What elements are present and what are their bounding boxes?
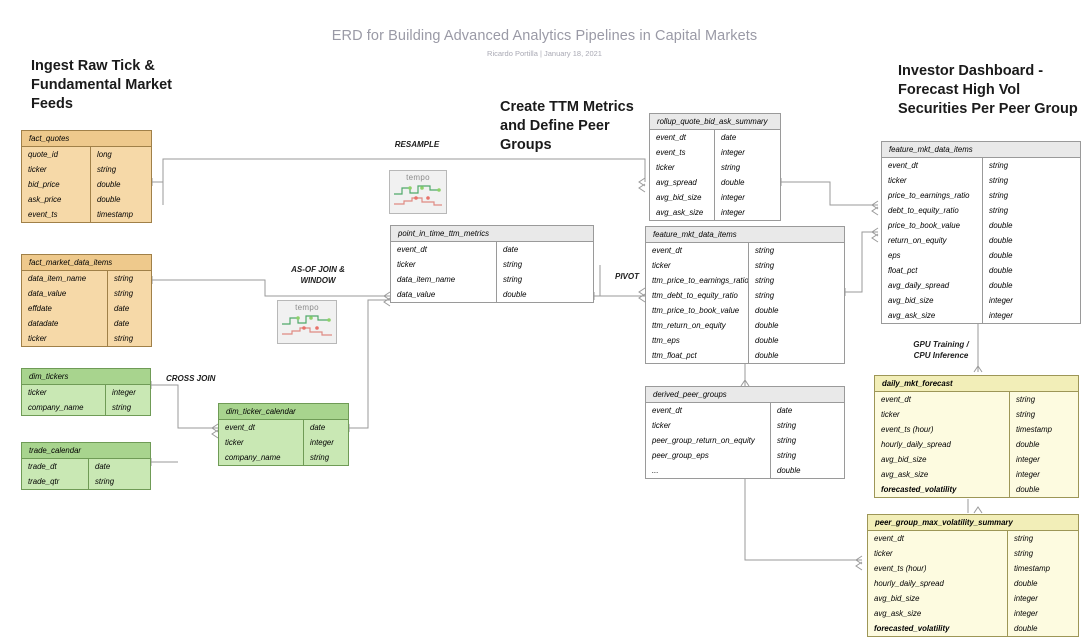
- table-row: forecasted_volatilitydouble: [875, 482, 1078, 497]
- field-name: price_to_earnings_ratio: [882, 188, 982, 203]
- field-name: avg_spread: [650, 175, 714, 190]
- field-type: string: [770, 448, 844, 463]
- table-header: fact_quotes: [22, 131, 151, 147]
- table-header: fact_market_data_items: [22, 255, 151, 271]
- field-type: date: [107, 316, 151, 331]
- field-name: ttm_price_to_earnings_ratio: [646, 273, 748, 288]
- table-row: event_ts (hour)timestamp: [868, 561, 1078, 576]
- tempo-sparkline-icon-2: [278, 312, 336, 338]
- table-row: event_dtdate: [646, 403, 844, 418]
- field-name: hourly_daily_spread: [875, 437, 1009, 452]
- field-name: trade_qtr: [22, 474, 88, 489]
- erd-table-trade-calendar[interactable]: trade_calendar trade_dtdatetrade_qtrstri…: [21, 442, 151, 490]
- table-row: tickerstring: [646, 258, 844, 273]
- field-type: integer: [714, 145, 780, 160]
- table-row: trade_qtrstring: [22, 474, 150, 489]
- erd-table-rollup-quote-bid-ask-summary[interactable]: rollup_quote_bid_ask_summary event_dtdat…: [649, 113, 781, 221]
- table-row: tickerstring: [875, 407, 1078, 422]
- table-row: event_tstimestamp: [22, 207, 151, 222]
- field-name: ticker: [391, 257, 496, 272]
- field-name: datadate: [22, 316, 107, 331]
- table-row: avg_spreaddouble: [650, 175, 780, 190]
- edge-label-resample: RESAMPLE: [380, 139, 454, 150]
- field-type: string: [90, 162, 151, 177]
- table-row: avg_bid_sizeinteger: [882, 293, 1080, 308]
- table-row: tickerstring: [868, 546, 1078, 561]
- table-body: event_dtdateevent_tsintegertickerstringa…: [650, 130, 780, 220]
- field-type: integer: [303, 435, 348, 450]
- field-name: ticker: [219, 435, 303, 450]
- table-body: data_item_namestringdata_valuestringeffd…: [22, 271, 151, 346]
- field-name: eps: [882, 248, 982, 263]
- table-row: forecasted_volatilitydouble: [868, 621, 1078, 636]
- field-type: integer: [714, 190, 780, 205]
- field-name: debt_to_equity_ratio: [882, 203, 982, 218]
- field-name: ttm_eps: [646, 333, 748, 348]
- field-name: data_value: [391, 287, 496, 302]
- field-name: avg_bid_size: [650, 190, 714, 205]
- edge-label-pivot: PIVOT: [606, 271, 648, 282]
- table-row: tickerstring: [22, 331, 151, 346]
- field-type: double: [982, 263, 1080, 278]
- field-type: string: [982, 188, 1080, 203]
- field-name: ticker: [875, 407, 1009, 422]
- field-name: ticker: [22, 331, 107, 346]
- field-type: double: [982, 248, 1080, 263]
- table-row: ttm_debt_to_equity_ratiostring: [646, 288, 844, 303]
- field-type: double: [1007, 576, 1078, 591]
- field-name: ticker: [646, 418, 770, 433]
- table-row: tickerstring: [650, 160, 780, 175]
- field-type: string: [88, 474, 150, 489]
- field-name: event_dt: [868, 531, 1007, 546]
- tempo-logo-icon: tempo: [389, 170, 447, 214]
- field-name: event_ts: [22, 207, 90, 222]
- table-row: avg_bid_sizeinteger: [875, 452, 1078, 467]
- field-type: integer: [982, 308, 1080, 323]
- table-header: feature_mkt_data_items: [646, 227, 844, 243]
- table-row: event_dtstring: [868, 531, 1078, 546]
- field-name: quote_id: [22, 147, 90, 162]
- field-type: date: [714, 130, 780, 145]
- field-type: double: [1007, 621, 1078, 636]
- field-type: integer: [1009, 467, 1078, 482]
- field-name: data_item_name: [391, 272, 496, 287]
- erd-table-fact-quotes[interactable]: fact_quotes quote_idlongtickerstringbid_…: [21, 130, 152, 223]
- field-name: ttm_float_pct: [646, 348, 748, 363]
- field-name: ticker: [22, 385, 105, 400]
- field-name: ttm_return_on_equity: [646, 318, 748, 333]
- field-type: timestamp: [1009, 422, 1078, 437]
- table-row: ...double: [646, 463, 844, 478]
- field-type: string: [770, 433, 844, 448]
- erd-table-feature-mkt-data-items-mid[interactable]: feature_mkt_data_items event_dtstringtic…: [645, 226, 845, 364]
- field-name: event_dt: [646, 243, 748, 258]
- erd-table-daily-mkt-forecast[interactable]: daily_mkt_forecast event_dtstringtickers…: [874, 375, 1079, 498]
- field-name: avg_bid_size: [868, 591, 1007, 606]
- table-row: datadatedate: [22, 316, 151, 331]
- field-name: avg_bid_size: [875, 452, 1009, 467]
- field-type: integer: [105, 385, 150, 400]
- field-type: string: [105, 400, 150, 415]
- field-type: integer: [714, 205, 780, 220]
- field-name: event_dt: [646, 403, 770, 418]
- table-body: event_dtstringtickerstringprice_to_earni…: [882, 158, 1080, 323]
- table-row: ttm_price_to_earnings_ratiostring: [646, 273, 844, 288]
- field-name: event_ts (hour): [875, 422, 1009, 437]
- table-row: tickerstring: [391, 257, 593, 272]
- field-type: string: [748, 273, 844, 288]
- table-row: avg_ask_sizeinteger: [650, 205, 780, 220]
- field-type: date: [496, 242, 593, 257]
- field-type: integer: [1007, 591, 1078, 606]
- field-type: double: [748, 333, 844, 348]
- field-name: event_ts: [650, 145, 714, 160]
- table-row: tickerinteger: [219, 435, 348, 450]
- field-type: string: [107, 331, 151, 346]
- field-name: event_ts (hour): [868, 561, 1007, 576]
- table-body: event_dtstringtickerstringttm_price_to_e…: [646, 243, 844, 363]
- erd-table-dim-tickers[interactable]: dim_tickers tickerintegercompany_namestr…: [21, 368, 151, 416]
- field-name: bid_price: [22, 177, 90, 192]
- field-name: ticker: [22, 162, 90, 177]
- field-name: avg_bid_size: [882, 293, 982, 308]
- table-row: event_dtstring: [875, 392, 1078, 407]
- table-header: daily_mkt_forecast: [875, 376, 1078, 392]
- field-type: string: [496, 272, 593, 287]
- table-header: dim_tickers: [22, 369, 150, 385]
- field-name: avg_ask_size: [882, 308, 982, 323]
- table-row: event_dtdate: [219, 420, 348, 435]
- field-type: string: [1007, 546, 1078, 561]
- table-row: float_pctdouble: [882, 263, 1080, 278]
- field-name: ticker: [650, 160, 714, 175]
- edge-label-gpu-training: GPU Training / CPU Inference: [893, 339, 989, 361]
- field-type: integer: [1009, 452, 1078, 467]
- table-header: derived_peer_groups: [646, 387, 844, 403]
- table-row: event_dtstring: [646, 243, 844, 258]
- table-body: quote_idlongtickerstringbid_pricedoublea…: [22, 147, 151, 222]
- field-type: string: [982, 203, 1080, 218]
- table-row: peer_group_epsstring: [646, 448, 844, 463]
- tempo-logo-icon-2: tempo: [277, 300, 337, 344]
- table-row: avg_daily_spreaddouble: [882, 278, 1080, 293]
- table-row: data_valuedouble: [391, 287, 593, 302]
- field-name: price_to_book_value: [882, 218, 982, 233]
- table-header: feature_mkt_data_items: [882, 142, 1080, 158]
- section-heading-ingest: Ingest Raw Tick & Fundamental Market Fee…: [31, 57, 206, 114]
- field-type: double: [496, 287, 593, 302]
- field-type: string: [496, 257, 593, 272]
- table-row: price_to_book_valuedouble: [882, 218, 1080, 233]
- table-row: event_ts (hour)timestamp: [875, 422, 1078, 437]
- table-row: ask_pricedouble: [22, 192, 151, 207]
- field-name: data_item_name: [22, 271, 107, 286]
- field-type: string: [1007, 531, 1078, 546]
- field-type: string: [107, 271, 151, 286]
- table-row: ttm_float_pctdouble: [646, 348, 844, 363]
- field-type: double: [1009, 437, 1078, 452]
- table-row: peer_group_return_on_equitystring: [646, 433, 844, 448]
- table-row: price_to_earnings_ratiostring: [882, 188, 1080, 203]
- field-type: string: [748, 288, 844, 303]
- erd-table-fact-market-data-items[interactable]: fact_market_data_items data_item_namestr…: [21, 254, 152, 347]
- page-title: ERD for Building Advanced Analytics Pipe…: [0, 28, 1089, 44]
- table-header: rollup_quote_bid_ask_summary: [650, 114, 780, 130]
- field-name: forecasted_volatility: [875, 482, 1009, 497]
- table-header: peer_group_max_volatility_summary: [868, 515, 1078, 531]
- field-type: string: [1009, 392, 1078, 407]
- table-row: tickerstring: [882, 173, 1080, 188]
- table-body: trade_dtdatetrade_qtrstring: [22, 459, 150, 489]
- field-type: date: [88, 459, 150, 474]
- edge-label-as-of-join: AS-OF JOIN & WINDOW: [270, 264, 366, 286]
- table-body: event_dtdatetickerstringpeer_group_retur…: [646, 403, 844, 478]
- erd-table-derived-peer-groups[interactable]: derived_peer_groups event_dtdatetickerst…: [645, 386, 845, 479]
- table-row: avg_bid_sizeinteger: [650, 190, 780, 205]
- section-heading-dashboard: Investor Dashboard - Forecast High Vol S…: [898, 62, 1083, 119]
- table-header: trade_calendar: [22, 443, 150, 459]
- erd-table-point-in-time-ttm-metrics[interactable]: point_in_time_ttm_metrics event_dtdateti…: [390, 225, 594, 303]
- table-row: event_dtdate: [650, 130, 780, 145]
- field-name: company_name: [219, 450, 303, 465]
- field-type: string: [982, 173, 1080, 188]
- field-type: string: [982, 158, 1080, 173]
- field-name: forecasted_volatility: [868, 621, 1007, 636]
- field-name: ticker: [868, 546, 1007, 561]
- table-row: event_dtstring: [882, 158, 1080, 173]
- field-name: peer_group_eps: [646, 448, 770, 463]
- table-row: bid_pricedouble: [22, 177, 151, 192]
- table-body: tickerintegercompany_namestring: [22, 385, 150, 415]
- field-name: ticker: [646, 258, 748, 273]
- field-type: string: [770, 418, 844, 433]
- field-name: data_value: [22, 286, 107, 301]
- erd-table-dim-ticker-calendar[interactable]: dim_ticker_calendar event_dtdatetickerin…: [218, 403, 349, 466]
- table-row: company_namestring: [22, 400, 150, 415]
- table-row: company_namestring: [219, 450, 348, 465]
- tempo-logo-caption-2: tempo: [278, 303, 336, 312]
- table-row: data_item_namestring: [391, 272, 593, 287]
- field-type: date: [107, 301, 151, 316]
- erd-table-feature-mkt-data-items-right[interactable]: feature_mkt_data_items event_dtstringtic…: [881, 141, 1081, 324]
- field-type: string: [1009, 407, 1078, 422]
- field-type: string: [714, 160, 780, 175]
- section-heading-ttm: Create TTM Metrics and Define Peer Group…: [500, 98, 650, 155]
- field-name: event_dt: [875, 392, 1009, 407]
- field-name: event_dt: [882, 158, 982, 173]
- table-row: avg_bid_sizeinteger: [868, 591, 1078, 606]
- table-header: point_in_time_ttm_metrics: [391, 226, 593, 242]
- table-row: data_item_namestring: [22, 271, 151, 286]
- field-name: event_dt: [219, 420, 303, 435]
- table-body: event_dtstringtickerstringevent_ts (hour…: [875, 392, 1078, 497]
- table-row: event_dtdate: [391, 242, 593, 257]
- field-name: peer_group_return_on_equity: [646, 433, 770, 448]
- field-type: double: [982, 218, 1080, 233]
- field-type: double: [982, 233, 1080, 248]
- table-row: avg_ask_sizeinteger: [882, 308, 1080, 323]
- page-title-text: ERD for Building Advanced Analytics Pipe…: [332, 28, 758, 44]
- table-row: tickerinteger: [22, 385, 150, 400]
- field-type: string: [107, 286, 151, 301]
- field-type: double: [90, 192, 151, 207]
- table-body: event_dtdatetickerstringdata_item_namest…: [391, 242, 593, 302]
- field-name: ...: [646, 463, 770, 478]
- field-name: trade_dt: [22, 459, 88, 474]
- field-name: avg_ask_size: [875, 467, 1009, 482]
- tempo-logo-caption: tempo: [390, 173, 446, 182]
- table-row: epsdouble: [882, 248, 1080, 263]
- field-name: hourly_daily_spread: [868, 576, 1007, 591]
- field-name: ttm_debt_to_equity_ratio: [646, 288, 748, 303]
- erd-canvas: ERD for Building Advanced Analytics Pipe…: [0, 0, 1089, 639]
- field-name: effdate: [22, 301, 107, 316]
- table-row: ttm_price_to_book_valuedouble: [646, 303, 844, 318]
- field-type: timestamp: [90, 207, 151, 222]
- table-row: quote_idlong: [22, 147, 151, 162]
- table-body: event_dtdatetickerintegercompany_namestr…: [219, 420, 348, 465]
- table-row: trade_dtdate: [22, 459, 150, 474]
- field-name: event_dt: [391, 242, 496, 257]
- table-row: return_on_equitydouble: [882, 233, 1080, 248]
- table-row: avg_ask_sizeinteger: [875, 467, 1078, 482]
- field-name: avg_ask_size: [650, 205, 714, 220]
- field-type: double: [714, 175, 780, 190]
- table-row: ttm_epsdouble: [646, 333, 844, 348]
- field-name: float_pct: [882, 263, 982, 278]
- field-type: double: [748, 318, 844, 333]
- field-type: integer: [982, 293, 1080, 308]
- field-name: avg_daily_spread: [882, 278, 982, 293]
- field-type: double: [1009, 482, 1078, 497]
- table-row: hourly_daily_spreaddouble: [868, 576, 1078, 591]
- field-type: date: [770, 403, 844, 418]
- table-row: hourly_daily_spreaddouble: [875, 437, 1078, 452]
- field-name: company_name: [22, 400, 105, 415]
- table-row: tickerstring: [22, 162, 151, 177]
- table-header: dim_ticker_calendar: [219, 404, 348, 420]
- table-row: debt_to_equity_ratiostring: [882, 203, 1080, 218]
- field-type: timestamp: [1007, 561, 1078, 576]
- field-type: double: [770, 463, 844, 478]
- field-type: double: [982, 278, 1080, 293]
- table-row: avg_ask_sizeinteger: [868, 606, 1078, 621]
- table-body: event_dtstringtickerstringevent_ts (hour…: [868, 531, 1078, 636]
- field-type: integer: [1007, 606, 1078, 621]
- field-name: return_on_equity: [882, 233, 982, 248]
- field-type: double: [748, 303, 844, 318]
- erd-table-peer-group-max-volatility-summary[interactable]: peer_group_max_volatility_summary event_…: [867, 514, 1079, 637]
- field-name: ttm_price_to_book_value: [646, 303, 748, 318]
- table-row: tickerstring: [646, 418, 844, 433]
- field-name: ask_price: [22, 192, 90, 207]
- field-type: date: [303, 420, 348, 435]
- table-row: ttm_return_on_equitydouble: [646, 318, 844, 333]
- field-type: string: [748, 258, 844, 273]
- table-row: data_valuestring: [22, 286, 151, 301]
- field-type: double: [748, 348, 844, 363]
- field-type: string: [748, 243, 844, 258]
- field-name: avg_ask_size: [868, 606, 1007, 621]
- field-type: string: [303, 450, 348, 465]
- table-row: effdatedate: [22, 301, 151, 316]
- field-name: ticker: [882, 173, 982, 188]
- field-type: long: [90, 147, 151, 162]
- edge-label-cross-join: CROSS JOIN: [166, 373, 236, 384]
- tempo-sparkline-icon: [390, 182, 446, 208]
- field-name: event_dt: [650, 130, 714, 145]
- field-type: double: [90, 177, 151, 192]
- table-row: event_tsinteger: [650, 145, 780, 160]
